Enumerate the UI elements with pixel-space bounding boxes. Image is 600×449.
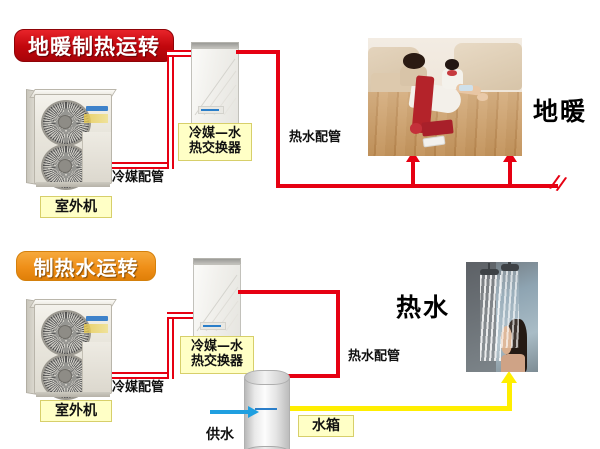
photo-water-spray: [501, 271, 520, 348]
photo-toy: [459, 85, 473, 91]
daikin-logo-icon: [86, 106, 108, 111]
photo-floor-heating-room: [368, 38, 522, 156]
label-water-supply: 供水: [206, 424, 234, 444]
label-heat-exchanger-2-line1: 冷媒—水: [191, 340, 243, 355]
section-banner-hot-water: 制热水运转: [16, 251, 156, 281]
tank-outlet-pipe-riser: [507, 382, 512, 409]
tank-outlet-pipe-horizontal: [290, 406, 512, 411]
result-label-hot-water: 热水: [396, 288, 450, 324]
photo-bare-foot: [477, 93, 488, 100]
label-heat-exchanger-1: 冷媒—水 热交换器: [178, 123, 252, 161]
label-heat-exchanger-1-line1: 冷媒—水: [189, 127, 241, 142]
hot-water-pipe-vertical-segment-2: [336, 290, 340, 378]
outdoor-unit-control-panel: [82, 342, 111, 392]
label-heat-exchanger-2-line2: 热交换器: [191, 355, 243, 370]
label-outdoor-unit-2: 室外机: [40, 400, 112, 422]
label-refrigerant-pipe-1: 冷媒配管: [112, 166, 164, 185]
photo-shower-head-icon: [501, 264, 520, 271]
floor-heating-riser-1: [411, 160, 415, 186]
floor-heating-riser-2: [508, 160, 512, 186]
label-heat-exchanger-1-line2: 热交换器: [189, 142, 241, 157]
photo-shower: [466, 262, 538, 372]
fan-hub-icon: [58, 159, 72, 173]
daikin-logo-icon: [200, 322, 226, 330]
hot-water-pipe-top-segment-2: [238, 290, 340, 294]
outdoor-unit-label-strip: [84, 324, 108, 333]
label-outdoor-unit-1-text: 室外机: [55, 199, 97, 215]
section-banner-floor-heating: 地暖制热运转: [14, 29, 174, 62]
pipe-break-mark-icon: //: [548, 172, 567, 194]
photo-person-shoulder: [501, 354, 525, 372]
hot-water-arrow-icon: [501, 371, 517, 383]
label-refrigerant-pipe-2: 冷媒配管: [112, 376, 164, 395]
label-hot-water-pipe-2: 热水配管: [348, 345, 400, 364]
photo-water-spray: [480, 275, 500, 361]
refrigerant-pipe-vertical-segment: [167, 50, 174, 169]
label-water-tank-text: 水箱: [312, 418, 340, 434]
outdoor-unit-floor-heating: [28, 86, 118, 190]
outdoor-unit-base: [36, 392, 110, 397]
daikin-logo-icon: [198, 106, 224, 114]
hot-water-pipe-top-segment: [236, 50, 280, 54]
hot-water-pipe-floor-loop: [276, 184, 558, 188]
diagram-canvas: 地暖制热运转 室外机 冷媒配管 冷: [0, 0, 600, 449]
photo-woman-hair: [403, 53, 425, 68]
photo-shower-head-icon: [480, 269, 499, 276]
water-supply-arrow-icon: [248, 406, 259, 418]
hydro-box-floor-heating: [191, 42, 239, 126]
fan-hub-icon: [58, 325, 72, 339]
label-hot-water-pipe-1: 热水配管: [289, 126, 341, 145]
label-heat-exchanger-2: 冷媒—水 热交换器: [180, 336, 254, 374]
hot-water-pipe-vertical-segment: [276, 50, 280, 188]
photo-sofa-right: [454, 43, 522, 90]
photo-child-bib: [447, 70, 458, 76]
photo-red-ball: [410, 123, 422, 134]
fan-hub-icon: [58, 369, 72, 383]
daikin-logo-icon: [86, 316, 108, 321]
result-label-floor-heating: 地暖: [533, 92, 587, 128]
refrigerant-pipe-vertical-segment-2: [167, 312, 174, 379]
fan-hub-icon: [58, 115, 72, 129]
label-outdoor-unit-1: 室外机: [40, 196, 112, 218]
photo-child-hair: [445, 59, 459, 70]
label-water-tank: 水箱: [298, 415, 354, 437]
outdoor-unit-hot-water: [28, 296, 118, 400]
water-tank-top-cap: [244, 370, 290, 385]
outdoor-unit-base: [36, 182, 110, 187]
outdoor-unit-control-panel: [82, 132, 111, 182]
water-supply-pipe: [210, 410, 250, 414]
hydro-box-hot-water: [193, 258, 241, 342]
photo-red-fabric-2: [421, 119, 453, 136]
label-outdoor-unit-2-text: 室外机: [55, 403, 97, 419]
outdoor-unit-label-strip: [84, 114, 108, 123]
